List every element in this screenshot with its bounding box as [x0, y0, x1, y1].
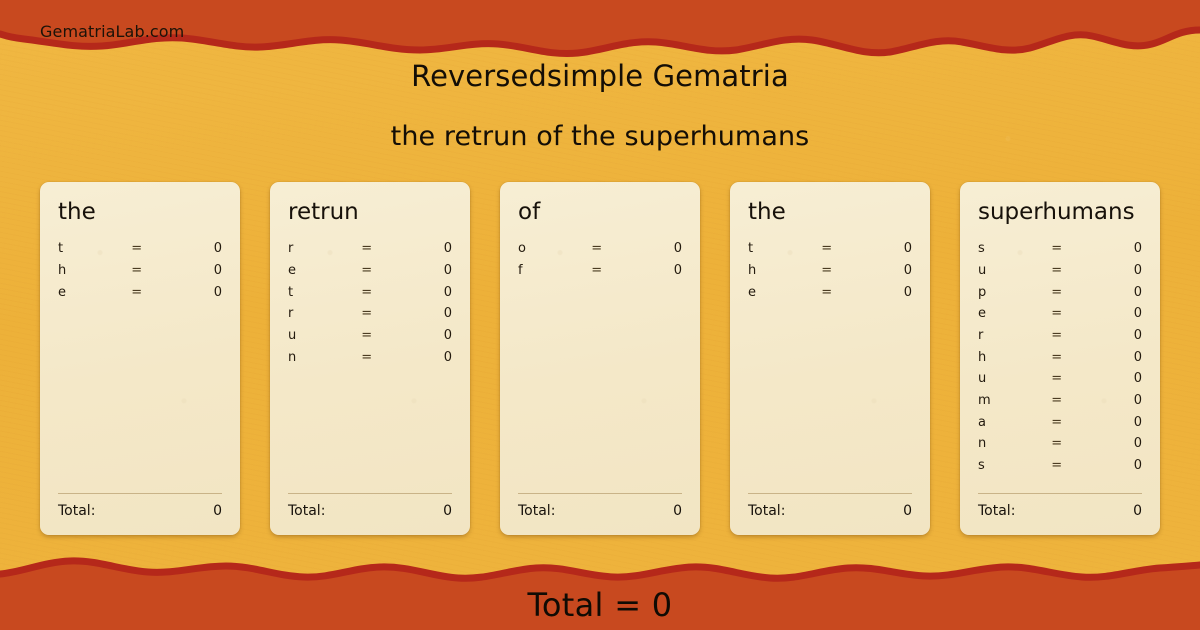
equals-sign: =: [344, 241, 390, 256]
letter-value: 0: [390, 263, 452, 278]
letter-value: 0: [1080, 350, 1142, 365]
letter-row: n=0: [288, 350, 452, 372]
equals-sign: =: [344, 328, 390, 343]
card-total-row: Total:0: [288, 493, 452, 519]
grand-total: Total = 0: [0, 586, 1200, 624]
letter-row: r=0: [978, 328, 1142, 350]
letter-char: e: [978, 306, 1034, 321]
equals-sign: =: [1034, 328, 1080, 343]
letter-value: 0: [1080, 263, 1142, 278]
letter-value: 0: [620, 241, 682, 256]
card-total-value: 0: [213, 503, 222, 519]
letter-row: f=0: [518, 263, 682, 285]
letter-row: t=0: [58, 241, 222, 263]
letter-value: 0: [1080, 415, 1142, 430]
word-card: ofo=0f=0Total:0: [500, 182, 700, 535]
letter-value: 0: [850, 263, 912, 278]
letter-char: t: [748, 241, 804, 256]
letter-row: e=0: [58, 285, 222, 307]
letter-row: s=0: [978, 458, 1142, 480]
card-total-label: Total:: [748, 503, 785, 519]
site-logo[interactable]: GematriaLab.com: [40, 22, 184, 41]
card-total-label: Total:: [58, 503, 95, 519]
letter-value: 0: [850, 241, 912, 256]
letter-row: n=0: [978, 436, 1142, 458]
letter-row: s=0: [978, 241, 1142, 263]
equals-sign: =: [344, 306, 390, 321]
letter-row: r=0: [288, 306, 452, 328]
letter-value: 0: [390, 241, 452, 256]
letter-char: f: [518, 263, 574, 278]
letter-value: 0: [390, 350, 452, 365]
letter-value: 0: [390, 306, 452, 321]
letter-char: t: [288, 285, 344, 300]
letter-char: e: [288, 263, 344, 278]
letter-char: p: [978, 285, 1034, 300]
letter-row: t=0: [288, 285, 452, 307]
letter-row: m=0: [978, 393, 1142, 415]
card-word: of: [518, 200, 682, 225]
letter-char: u: [288, 328, 344, 343]
letter-row: p=0: [978, 285, 1142, 307]
letter-char: s: [978, 458, 1034, 473]
letter-value: 0: [1080, 306, 1142, 321]
card-total-row: Total:0: [518, 493, 682, 519]
equals-sign: =: [1034, 241, 1080, 256]
card-total-value: 0: [1133, 503, 1142, 519]
card-total-value: 0: [903, 503, 912, 519]
equals-sign: =: [574, 241, 620, 256]
equals-sign: =: [1034, 306, 1080, 321]
letter-char: e: [748, 285, 804, 300]
word-card: thet=0h=0e=0Total:0: [40, 182, 240, 535]
equals-sign: =: [1034, 436, 1080, 451]
letter-row: e=0: [978, 306, 1142, 328]
letter-value: 0: [160, 285, 222, 300]
letter-value: 0: [390, 328, 452, 343]
letter-list: s=0u=0p=0e=0r=0h=0u=0m=0a=0n=0s=0: [978, 241, 1142, 493]
equals-sign: =: [114, 263, 160, 278]
card-total-label: Total:: [978, 503, 1015, 519]
equals-sign: =: [804, 241, 850, 256]
letter-char: s: [978, 241, 1034, 256]
letter-char: r: [288, 241, 344, 256]
equals-sign: =: [1034, 285, 1080, 300]
card-word: superhumans: [978, 200, 1142, 225]
letter-row: e=0: [288, 263, 452, 285]
equals-sign: =: [344, 285, 390, 300]
letter-row: e=0: [748, 285, 912, 307]
letter-row: u=0: [288, 328, 452, 350]
equals-sign: =: [804, 263, 850, 278]
phrase-heading: the retrun of the superhumans: [0, 121, 1200, 152]
letter-value: 0: [160, 241, 222, 256]
letter-row: r=0: [288, 241, 452, 263]
word-card: thet=0h=0e=0Total:0: [730, 182, 930, 535]
equals-sign: =: [1034, 415, 1080, 430]
card-total-label: Total:: [518, 503, 555, 519]
equals-sign: =: [804, 285, 850, 300]
equals-sign: =: [1034, 393, 1080, 408]
letter-char: n: [288, 350, 344, 365]
letter-row: a=0: [978, 415, 1142, 437]
letter-row: h=0: [748, 263, 912, 285]
letter-list: r=0e=0t=0r=0u=0n=0: [288, 241, 452, 493]
equals-sign: =: [1034, 371, 1080, 386]
letter-row: h=0: [58, 263, 222, 285]
equals-sign: =: [1034, 458, 1080, 473]
letter-char: u: [978, 263, 1034, 278]
letter-list: t=0h=0e=0: [748, 241, 912, 493]
equals-sign: =: [344, 350, 390, 365]
card-word: the: [748, 200, 912, 225]
card-word: the: [58, 200, 222, 225]
card-total-row: Total:0: [58, 493, 222, 519]
letter-char: e: [58, 285, 114, 300]
letter-char: a: [978, 415, 1034, 430]
equals-sign: =: [114, 285, 160, 300]
card-total-label: Total:: [288, 503, 325, 519]
page-canvas: GematriaLab.com Reversedsimple Gematria …: [0, 0, 1200, 630]
letter-char: n: [978, 436, 1034, 451]
card-total-value: 0: [443, 503, 452, 519]
letter-char: m: [978, 393, 1034, 408]
letter-value: 0: [1080, 285, 1142, 300]
letter-row: h=0: [978, 350, 1142, 372]
card-total-row: Total:0: [978, 493, 1142, 519]
letter-char: h: [58, 263, 114, 278]
letter-value: 0: [1080, 371, 1142, 386]
letter-value: 0: [1080, 328, 1142, 343]
letter-value: 0: [1080, 241, 1142, 256]
letter-list: t=0h=0e=0: [58, 241, 222, 493]
letter-char: u: [978, 371, 1034, 386]
word-card-row: thet=0h=0e=0Total:0retrunr=0e=0t=0r=0u=0…: [40, 182, 1160, 535]
equals-sign: =: [1034, 350, 1080, 365]
letter-row: o=0: [518, 241, 682, 263]
letter-row: t=0: [748, 241, 912, 263]
letter-char: r: [978, 328, 1034, 343]
letter-row: u=0: [978, 371, 1142, 393]
letter-row: u=0: [978, 263, 1142, 285]
equals-sign: =: [114, 241, 160, 256]
letter-list: o=0f=0: [518, 241, 682, 493]
page-title: Reversedsimple Gematria: [0, 59, 1200, 93]
equals-sign: =: [574, 263, 620, 278]
letter-char: h: [978, 350, 1034, 365]
card-word: retrun: [288, 200, 452, 225]
letter-char: h: [748, 263, 804, 278]
letter-value: 0: [160, 263, 222, 278]
letter-value: 0: [1080, 436, 1142, 451]
equals-sign: =: [1034, 263, 1080, 278]
letter-char: o: [518, 241, 574, 256]
letter-char: t: [58, 241, 114, 256]
card-total-value: 0: [673, 503, 682, 519]
card-total-row: Total:0: [748, 493, 912, 519]
letter-value: 0: [1080, 393, 1142, 408]
letter-char: r: [288, 306, 344, 321]
letter-value: 0: [390, 285, 452, 300]
letter-value: 0: [620, 263, 682, 278]
word-card: retrunr=0e=0t=0r=0u=0n=0Total:0: [270, 182, 470, 535]
letter-value: 0: [850, 285, 912, 300]
letter-value: 0: [1080, 458, 1142, 473]
equals-sign: =: [344, 263, 390, 278]
word-card: superhumanss=0u=0p=0e=0r=0h=0u=0m=0a=0n=…: [960, 182, 1160, 535]
